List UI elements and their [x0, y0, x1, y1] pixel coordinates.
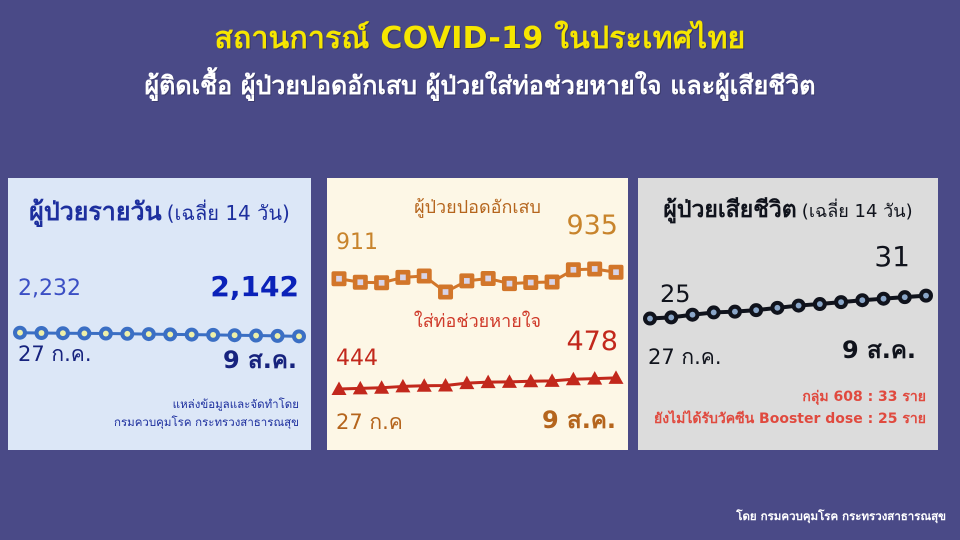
panel-deaths: ผู้ป่วยเสียชีวิต (เฉลี่ย 14 วัน) 25 31 2… [638, 178, 938, 450]
page-subtitle: ผู้ติดเชื้อ ผู้ป่วยปอดอักเสบ ผู้ป่วยใส่ท… [0, 71, 960, 101]
deaths-note: กลุ่ม 608 : 33 ราย ยังไม่ได้รับวัคซีน Bo… [654, 386, 926, 431]
daily-cases-start-value: 2,232 [18, 276, 81, 301]
panel-daily-cases: ผู้ป่วยรายวัน (เฉลี่ย 14 วัน) 2,232 2,14… [8, 178, 311, 450]
daily-cases-source-line1: แหล่งข้อมูลและจัดทำโดย [114, 396, 299, 414]
daily-cases-source: แหล่งข้อมูลและจัดทำโดย กรมควบคุมโรค กระท… [114, 396, 299, 432]
daily-cases-end-date: 9 ส.ค. [223, 340, 297, 379]
daily-cases-source-line2: กรมควบคุมโรค กระทรวงสาธารณสุข [114, 414, 299, 432]
deaths-title-text: ผู้ป่วยเสียชีวิต [663, 197, 796, 223]
daily-cases-start-date: 27 ก.ค. [18, 338, 92, 371]
deaths-note-line1: กลุ่ม 608 : 33 ราย [654, 386, 926, 408]
page-header: สถานการณ์ COVID-19 ในประเทศไทย ผู้ติดเชื… [0, 0, 960, 101]
panel-pneumonia-ventilator: ผู้ป่วยปอดอักเสบ 911 935 ใส่ท่อช่วยหายใจ… [327, 178, 628, 450]
deaths-note-line2: ยังไม่ได้รับวัคซีน Booster dose : 25 ราย [654, 408, 926, 430]
ventilator-end-value: 478 [566, 326, 618, 357]
pneumonia-chart [327, 246, 628, 312]
daily-cases-title: ผู้ป่วยรายวัน (เฉลี่ย 14 วัน) [8, 192, 311, 232]
daily-cases-end-value: 2,142 [210, 270, 299, 303]
deaths-start-date: 27 ก.ค. [648, 341, 722, 374]
page-footer: โดย กรมควบคุมโรค กระทรวงสาธารณสุข [736, 508, 946, 526]
panels-container: ผู้ป่วยรายวัน (เฉลี่ย 14 วัน) 2,232 2,14… [0, 178, 960, 453]
deaths-title-note: (เฉลี่ย 14 วัน) [802, 201, 913, 222]
deaths-end-value: 31 [874, 240, 910, 273]
daily-cases-title-text: ผู้ป่วยรายวัน [29, 197, 161, 226]
pneumonia-end-date: 9 ส.ค. [542, 400, 616, 439]
pneumonia-start-date: 27 ก.ค [336, 406, 403, 439]
pneumonia-end-value: 935 [566, 210, 618, 241]
page-title: สถานการณ์ COVID-19 ในประเทศไทย [0, 22, 960, 57]
deaths-end-date: 9 ส.ค. [842, 330, 916, 369]
daily-cases-title-note: (เฉลี่ย 14 วัน) [167, 201, 290, 225]
deaths-title: ผู้ป่วยเสียชีวิต (เฉลี่ย 14 วัน) [638, 192, 938, 228]
